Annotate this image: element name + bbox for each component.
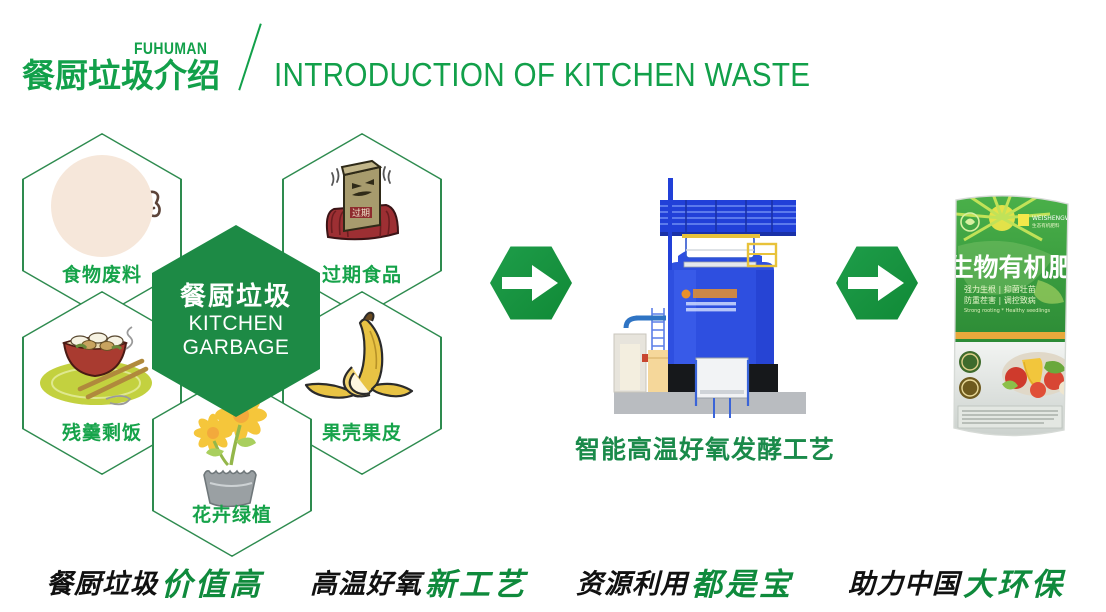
- center-title-cn: 餐厨垃圾: [180, 281, 292, 312]
- slogan-item: 高温好氧 新工艺: [310, 556, 527, 606]
- title-slash-divider: [226, 18, 272, 92]
- header-title-group: FUHUMAN 餐厨垃圾介绍: [22, 28, 224, 94]
- svg-text:生物有机肥: 生物有机肥: [948, 253, 1073, 282]
- hex-label: 花卉绿植: [152, 500, 312, 527]
- page-title-english: INTRODUCTION OF KITCHEN WASTE: [274, 57, 810, 94]
- svg-text:生态有机肥料: 生态有机肥料: [1032, 222, 1060, 229]
- slogan-item: 资源利用 都是宝: [576, 556, 793, 606]
- center-title-en-1: KITCHEN: [189, 312, 284, 337]
- svg-text:强力生根 | 抑菌壮苗: 强力生根 | 抑菌壮苗: [964, 284, 1036, 294]
- fermentation-tank-icon: [596, 178, 824, 428]
- svg-text:Strong rooting * Healthy seedl: Strong rooting * Healthy seedlings: [964, 308, 1051, 314]
- slogan-dark-text: 餐厨垃圾: [46, 562, 158, 601]
- slogan-green-text: 新工艺: [422, 559, 527, 604]
- slogan-green-text: 都是宝: [688, 559, 793, 604]
- header-pinyin: FUHUMAN: [134, 40, 207, 57]
- slogan-dark-text: 高温好氧: [310, 562, 422, 601]
- process-caption: 智能高温好氧发酵工艺: [540, 430, 870, 466]
- hex-label: 果壳果皮: [282, 418, 442, 445]
- slogan-item: 助力中国 大环保: [848, 556, 1065, 606]
- arrow-right-icon: [836, 245, 918, 321]
- svg-text:过期: 过期: [352, 207, 370, 219]
- kitchen-waste-hex-cluster: 食物废料 过期 过期食品: [8, 125, 456, 515]
- svg-text:防重茬害 | 调控致病: 防重茬害 | 调控致病: [964, 295, 1036, 305]
- arrow-right-icon: [490, 245, 572, 321]
- page-header: FUHUMAN 餐厨垃圾介绍 INTRODUCTION OF KITCHEN W…: [0, 18, 1106, 106]
- slogan-green-text: 价值高: [158, 559, 263, 604]
- footer-slogans: 餐厨垃圾 价值高 高温好氧 新工艺 资源利用 都是宝 助力中国 大环保: [0, 556, 1106, 606]
- hex-tile-kitchen-garbage-center[interactable]: 餐厨垃圾 KITCHEN GARBAGE: [152, 225, 320, 417]
- slogan-dark-text: 资源利用: [576, 562, 688, 601]
- fertilizer-bag-icon: WEISHENGWUFEI 生态有机肥料 生物有机肥 强力生根 | 抑菌壮苗 防…: [946, 192, 1076, 440]
- page-title: 餐厨垃圾介绍: [22, 58, 220, 94]
- svg-text:WEISHENGWUFEI: WEISHENGWUFEI: [1032, 215, 1076, 222]
- center-title-en-2: GARBAGE: [183, 336, 290, 361]
- hex-label: 残羹剩饭: [22, 418, 182, 445]
- slogan-dark-text: 助力中国: [848, 562, 960, 601]
- slogan-green-text: 大环保: [960, 559, 1065, 604]
- slogan-item: 餐厨垃圾 价值高: [46, 556, 263, 606]
